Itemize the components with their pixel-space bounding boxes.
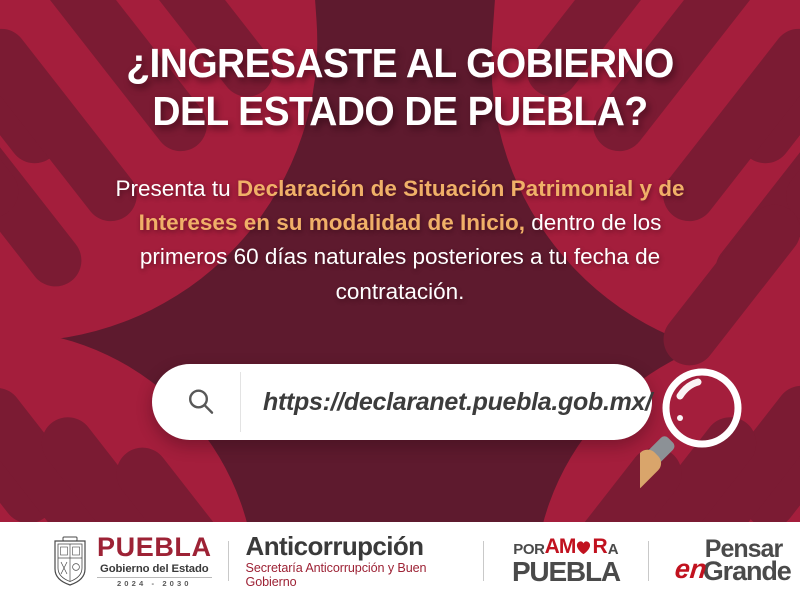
heart-icon — [575, 540, 592, 555]
amor-top-row: POR AM R A — [513, 536, 618, 557]
amor-pre-text: AM — [545, 536, 576, 557]
puebla-years: 2024 - 2030 — [117, 579, 192, 588]
page-title: ¿INGRESASTE AL GOBIERNO DEL ESTADO DE PU… — [20, 40, 780, 135]
amor-por-text: POR — [513, 542, 544, 557]
puebla-government-logo: PUEBLA Gobierno del Estado 2024 - 2030 — [0, 534, 212, 588]
anticorrupcion-title: Anticorrupción — [246, 533, 460, 560]
search-bar[interactable]: https://declaranet.puebla.gob.mx/ — [152, 364, 652, 440]
puebla-wordmark-lockup: PUEBLA Gobierno del Estado 2024 - 2030 — [97, 534, 212, 588]
body-copy: Presenta tu Declaración de Situación Pat… — [0, 172, 800, 309]
poster-canvas: ¿INGRESASTE AL GOBIERNO DEL ESTADO DE PU… — [0, 0, 800, 600]
puebla-wordmark: PUEBLA — [97, 534, 212, 561]
search-input[interactable]: https://declaranet.puebla.gob.mx/ — [263, 388, 652, 417]
body-segment-1: Presenta tu — [116, 176, 237, 201]
amor-puebla-text: PUEBLA — [512, 558, 620, 586]
grande-text: Grande — [703, 558, 791, 585]
puebla-coat-of-arms-icon — [52, 536, 88, 586]
search-divider — [240, 372, 241, 432]
pensar-en-grande-logo: Pensar Grande en — [675, 536, 800, 586]
en-text: en — [673, 556, 707, 583]
headline-line-1: ¿INGRESASTE AL GOBIERNO — [126, 40, 673, 86]
anticorrupcion-subtitle: Secretaría Anticorrupción y Buen Gobiern… — [246, 561, 460, 589]
puebla-subtitle: Gobierno del Estado — [100, 563, 209, 575]
amor-post-text: R — [592, 536, 606, 557]
headline-line-2: DEL ESTADO DE PUEBLA? — [62, 88, 738, 136]
footer-bar: PUEBLA Gobierno del Estado 2024 - 2030 A… — [0, 522, 800, 600]
por-amor-a-puebla-logo: POR AM R A PUEBLA — [512, 536, 620, 586]
search-icon — [186, 387, 216, 417]
amor-a-text: A — [608, 542, 619, 557]
anticorrupcion-logo: Anticorrupción Secretaría Anticorrupción… — [246, 533, 460, 589]
puebla-rule — [97, 577, 212, 578]
footer-divider-1 — [228, 541, 229, 581]
amor-amor-text: AM R — [545, 536, 607, 557]
footer-divider-3 — [648, 541, 649, 581]
footer-divider-2 — [483, 541, 484, 581]
magnifier-icon — [640, 356, 790, 506]
